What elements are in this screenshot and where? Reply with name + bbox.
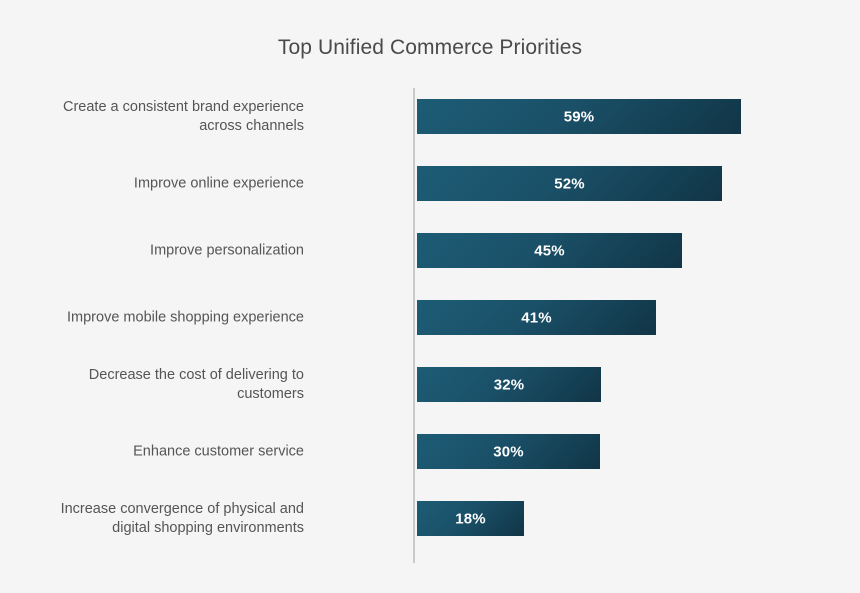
bar-row: Create a consistent brand experience acr… (0, 99, 860, 134)
bar-value-label: 45% (534, 242, 565, 259)
bar-value-label: 32% (494, 376, 525, 393)
bar-container: 32% (417, 367, 601, 402)
bar-container: 41% (417, 300, 656, 335)
bar[interactable]: 18% (417, 501, 524, 536)
bar[interactable]: 52% (417, 166, 722, 201)
bar-row: Improve mobile shopping experience 41% (0, 300, 860, 335)
bar-container: 59% (417, 99, 741, 134)
category-label-line: Create a consistent brand experience (4, 98, 304, 117)
category-label-line: Improve mobile shopping experience (4, 308, 304, 327)
category-label: Improve online experience (4, 174, 304, 193)
bar-row: Enhance customer service 30% (0, 434, 860, 469)
bar[interactable]: 32% (417, 367, 601, 402)
plot-area: Create a consistent brand experience acr… (0, 88, 860, 564)
bar-chart: Top Unified Commerce Priorities Create a… (0, 0, 860, 593)
bar-container: 30% (417, 434, 600, 469)
bar[interactable]: 41% (417, 300, 656, 335)
category-label-line: Improve personalization (4, 241, 304, 260)
category-label-line: Increase convergence of physical and (4, 500, 304, 519)
category-label: Improve mobile shopping experience (4, 308, 304, 327)
category-label-line: digital shopping environments (4, 519, 304, 538)
bar-row: Improve online experience 52% (0, 166, 860, 201)
category-label: Enhance customer service (4, 442, 304, 461)
bar-container: 45% (417, 233, 682, 268)
bar-row: Decrease the cost of delivering to custo… (0, 367, 860, 402)
category-label-line: Enhance customer service (4, 442, 304, 461)
category-label-line: across channels (4, 117, 304, 136)
bar-container: 52% (417, 166, 722, 201)
category-label-line: customers (4, 385, 304, 404)
bar[interactable]: 59% (417, 99, 741, 134)
chart-title: Top Unified Commerce Priorities (0, 36, 860, 60)
bar-value-label: 30% (493, 443, 524, 460)
bar[interactable]: 45% (417, 233, 682, 268)
bar-container: 18% (417, 501, 524, 536)
category-label: Decrease the cost of delivering to custo… (4, 366, 304, 404)
bar-row: Improve personalization 45% (0, 233, 860, 268)
bar[interactable]: 30% (417, 434, 600, 469)
category-label-line: Decrease the cost of delivering to (4, 366, 304, 385)
category-label-line: Improve online experience (4, 174, 304, 193)
category-label: Improve personalization (4, 241, 304, 260)
category-label: Create a consistent brand experience acr… (4, 98, 304, 136)
bar-row: Increase convergence of physical and dig… (0, 501, 860, 536)
bar-value-label: 52% (554, 175, 585, 192)
bar-value-label: 59% (564, 108, 595, 125)
bar-value-label: 41% (521, 309, 552, 326)
bar-value-label: 18% (455, 510, 486, 527)
category-label: Increase convergence of physical and dig… (4, 500, 304, 538)
